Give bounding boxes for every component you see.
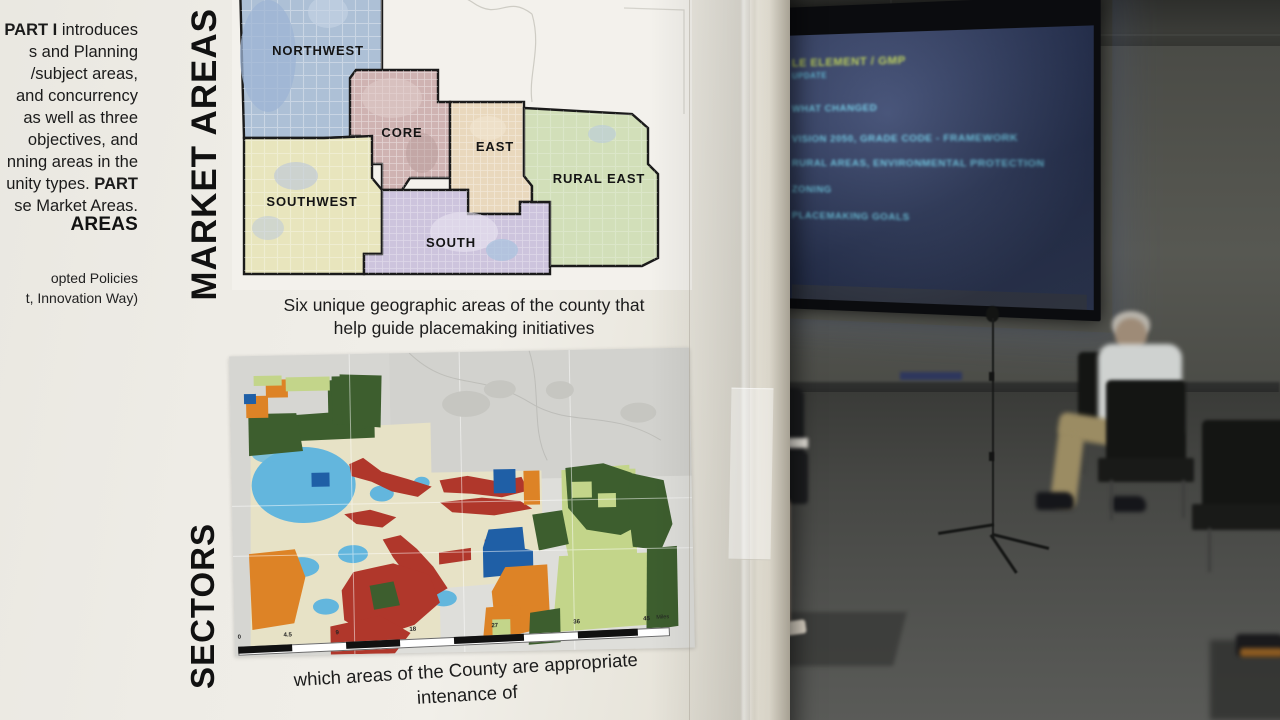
mic-pole xyxy=(992,318,994,538)
shoe-sole xyxy=(1240,648,1280,657)
wall-sign xyxy=(900,372,962,380)
mic-joint xyxy=(989,372,994,381)
printed-planning-poster: PART I introduces s and Planning /subjec… xyxy=(0,0,790,720)
scale-tick: 27 xyxy=(491,623,498,629)
slide-subtitle: UPDATE xyxy=(792,71,827,81)
body-line: PART I introduces xyxy=(0,20,138,42)
body-line: as well as three xyxy=(0,108,138,130)
scale-tick: 18 xyxy=(409,627,416,633)
market-map-caption: Six unique geographic areas of the count… xyxy=(218,294,710,341)
poster-right-edge xyxy=(744,0,790,720)
projector-screen: LE ELEMENT / GMP UPDATE WHAT CHANGED VIS… xyxy=(780,0,1101,321)
mic-joint xyxy=(989,452,994,461)
adhesive-tape xyxy=(729,388,774,561)
poster-fold-line xyxy=(689,0,690,720)
sectors-vertical-label: SECTORS xyxy=(184,523,222,689)
subtext-line: opted Policies xyxy=(0,268,138,288)
screenshot-root: LE ELEMENT / GMP UPDATE WHAT CHANGED VIS… xyxy=(0,0,1280,720)
market-areas-vertical-label: MARKET AREAS xyxy=(185,8,225,301)
caption-line: help guide placemaking initiatives xyxy=(218,317,710,340)
slide-item: RURAL AREAS, ENVIRONMENTAL PROTECTION xyxy=(792,158,1045,170)
slide-item: WHAT CHANGED xyxy=(792,103,877,115)
meeting-room-background: LE ELEMENT / GMP UPDATE WHAT CHANGED VIS… xyxy=(740,0,1280,720)
chair-leg xyxy=(1182,480,1185,518)
chair-leg xyxy=(1110,480,1113,520)
poster-subtext: opted Policies t, Innovation Way) xyxy=(0,268,138,309)
chair-back xyxy=(1106,380,1186,466)
slide-title: LE ELEMENT / GMP xyxy=(792,55,906,70)
body-line: /subject areas, xyxy=(0,64,138,86)
region-south xyxy=(364,190,550,274)
chair-back xyxy=(1202,420,1280,512)
body-line: objectives, and xyxy=(0,130,138,152)
sectors-map xyxy=(229,348,695,657)
poster-body-paragraph: PART I introduces s and Planning /subjec… xyxy=(0,20,138,217)
region-label-south: SOUTH xyxy=(396,236,506,250)
screen-surface: LE ELEMENT / GMP UPDATE WHAT CHANGED VIS… xyxy=(786,25,1094,310)
sectors-map-svg xyxy=(229,348,695,657)
scale-tick: 0 xyxy=(238,635,242,641)
market-areas-map: NORTHWEST CORE SOUTHWEST EAST SOUTH RURA… xyxy=(232,0,692,290)
region-label-east: EAST xyxy=(450,140,540,154)
scale-tick: 45 xyxy=(643,616,650,622)
region-label-southwest: SOUTHWEST xyxy=(242,195,382,209)
region-label-northwest: NORTHWEST xyxy=(258,44,378,58)
chair-seat xyxy=(1098,458,1194,482)
slide-item: VISION 2050, GRADE CODE - FRAMEWORK xyxy=(792,132,1018,145)
slide-item: ZONING xyxy=(792,184,832,195)
caption-line: Six unique geographic areas of the count… xyxy=(218,294,710,317)
chair-leg xyxy=(1208,528,1211,572)
body-line: unity types. PART xyxy=(0,174,138,196)
slide-item: PLACEMAKING GOALS xyxy=(792,210,910,223)
scale-tick: 9 xyxy=(335,630,339,636)
region-label-rural-east: RURAL EAST xyxy=(552,172,646,186)
chair-seat xyxy=(1192,504,1280,530)
poster-section-heading: AREAS xyxy=(0,214,138,236)
scale-tick: 4.5 xyxy=(283,632,292,638)
subtext-line: t, Innovation Way) xyxy=(0,288,138,308)
scale-tick: 36 xyxy=(573,619,580,625)
meeting-chair xyxy=(1192,420,1280,570)
body-line: nning areas in the xyxy=(0,152,138,174)
body-line: s and Planning xyxy=(0,42,138,64)
shoe xyxy=(1036,492,1074,510)
body-line: and concurrency xyxy=(0,86,138,108)
scale-unit-label: Miles xyxy=(656,614,669,621)
meeting-chair xyxy=(1098,380,1198,520)
region-label-core: CORE xyxy=(354,126,450,140)
